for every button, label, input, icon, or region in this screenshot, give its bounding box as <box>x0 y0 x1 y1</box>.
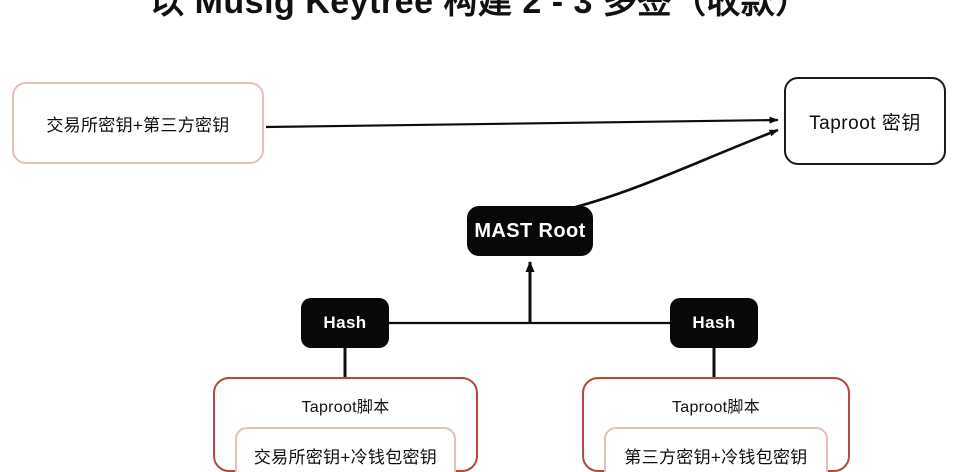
arrow-key-aggregate-to-taproot-key <box>266 120 778 127</box>
arrow-mast-root-to-taproot-key <box>572 130 778 208</box>
script-box-right-inner[interactable]: 第三方密钥+冷钱包密钥 <box>604 427 828 472</box>
script-box-right[interactable]: Taproot脚本 第三方密钥+冷钱包密钥 <box>582 377 850 472</box>
script-box-right-title: Taproot脚本 <box>584 393 848 417</box>
node-key-aggregate[interactable]: 交易所密钥+第三方密钥 <box>12 82 264 164</box>
diagram-canvas: 以 Musig Keytree 构建 2 - 3 多签（收款） 交易所密钥+第三… <box>0 0 960 472</box>
script-box-left-title: Taproot脚本 <box>215 393 476 417</box>
node-hash-left[interactable]: Hash <box>301 298 389 348</box>
node-hash-left-label: Hash <box>323 313 366 333</box>
node-key-aggregate-label: 交易所密钥+第三方密钥 <box>46 111 229 136</box>
node-taproot-key-label: Taproot 密钥 <box>809 108 921 135</box>
script-box-left-inner-label: 交易所密钥+冷钱包密钥 <box>254 443 437 468</box>
node-mast-root-label: MAST Root <box>474 220 585 243</box>
page-title: 以 Musig Keytree 构建 2 - 3 多签（收款） <box>0 0 960 24</box>
node-taproot-key[interactable]: Taproot 密钥 <box>784 77 946 165</box>
node-hash-right-label: Hash <box>692 313 735 333</box>
node-mast-root[interactable]: MAST Root <box>467 206 593 256</box>
script-box-left-inner[interactable]: 交易所密钥+冷钱包密钥 <box>235 427 456 472</box>
script-box-right-inner-label: 第三方密钥+冷钱包密钥 <box>624 443 807 468</box>
script-box-left[interactable]: Taproot脚本 交易所密钥+冷钱包密钥 <box>213 377 478 472</box>
node-hash-right[interactable]: Hash <box>670 298 758 348</box>
